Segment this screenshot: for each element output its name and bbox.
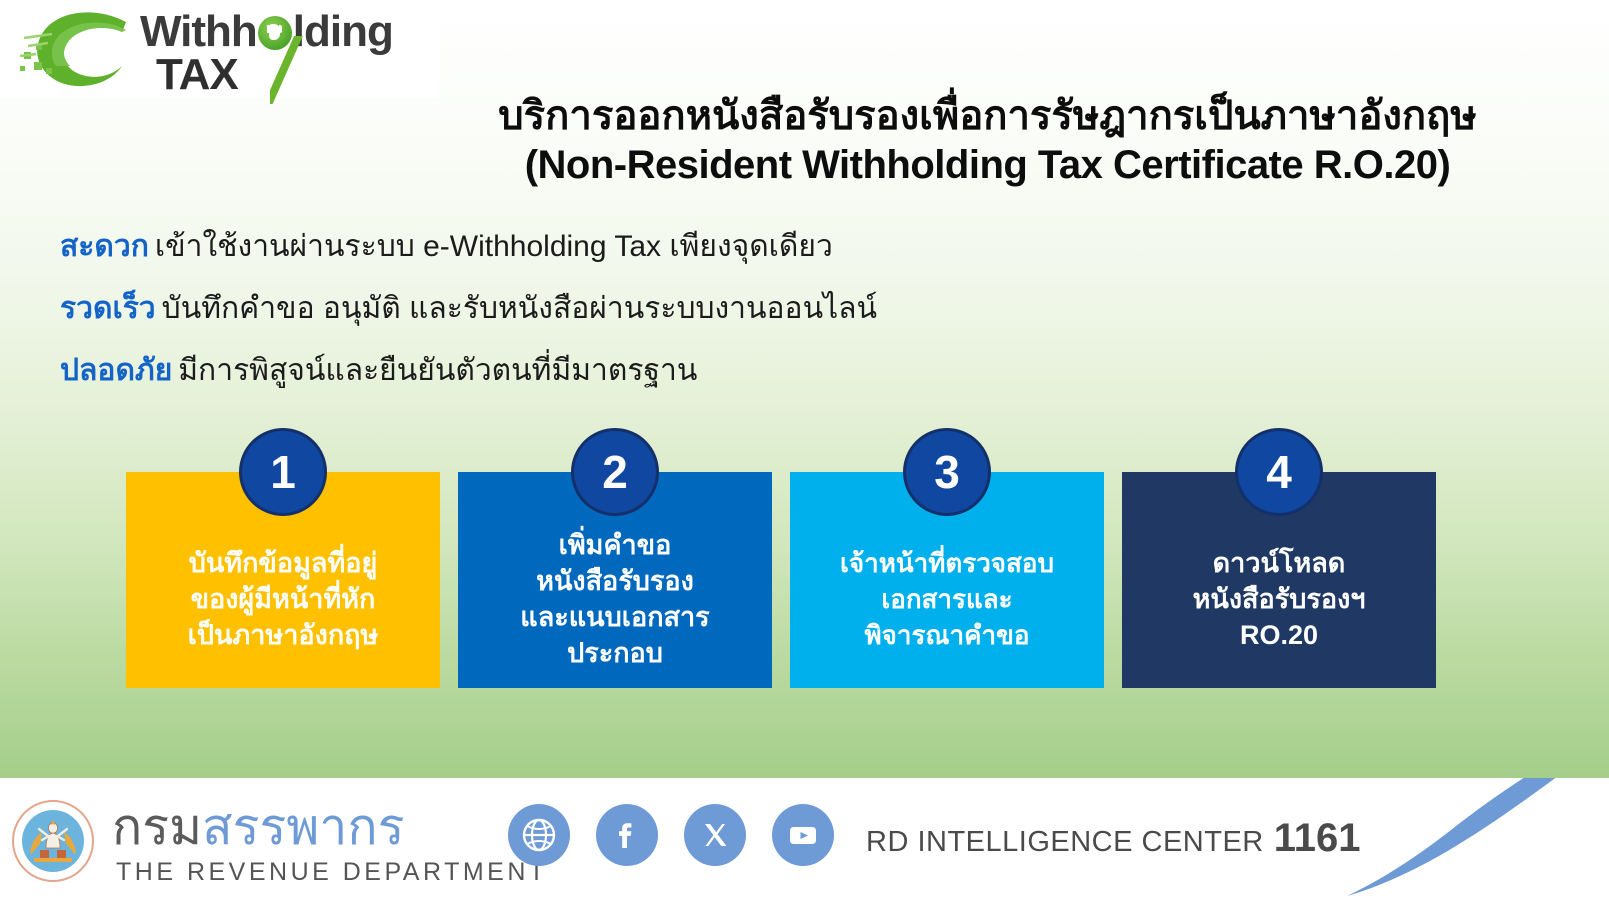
step-card-4-text: ดาวน์โหลด หนังสือรับรองฯ RO.20 xyxy=(1193,545,1366,653)
step-number-badge-2: 2 xyxy=(571,428,659,516)
page-title-english: (Non-Resident Withholding Tax Certificat… xyxy=(380,140,1595,190)
revenue-department-seal-icon xyxy=(12,800,94,882)
benefits-list: สะดวกเข้าใช้งานผ่านระบบ e-Withholding Ta… xyxy=(60,216,1160,402)
step-card-2: เพิ่มคำขอ หนังสือรับรอง และแนบเอกสาร ประ… xyxy=(458,472,772,688)
step-number-badge-4: 4 xyxy=(1235,428,1323,516)
page-title-thai: บริการออกหนังสือรับรองเพื่อการรัษฎากรเป็… xyxy=(380,92,1595,140)
revenue-department-english-name: THE REVENUE DEPARTMENT xyxy=(116,858,548,887)
footer-bar: กรมสรรพากร THE REVENUE DEPARTMENT xyxy=(0,778,1609,903)
green-e-icon xyxy=(18,8,148,96)
step-card-1: บันทึกข้อมูลที่อยู่ ของผู้มีหน้าที่หัก เ… xyxy=(126,472,440,688)
step-card-3-text: เจ้าหน้าที่ตรวจสอบ เอกสารและ พิจารณาคำขอ xyxy=(840,545,1054,653)
benefit-text: เข้าใช้งานผ่านระบบ e-Withholding Tax เพี… xyxy=(155,230,833,263)
rd-intelligence-center-label: RD INTELLIGENCE CENTER xyxy=(866,826,1264,858)
vishnu-emblem-figure xyxy=(26,814,80,868)
step-card-1-text: บันทึกข้อมูลที่อยู่ ของผู้มีหน้าที่หัก เ… xyxy=(188,545,379,653)
step-card-2-text: เพิ่มคำขอ หนังสือรับรอง และแนบเอกสาร ประ… xyxy=(520,527,709,671)
youtube-icon[interactable] xyxy=(772,804,834,866)
benefit-item: สะดวกเข้าใช้งานผ่านระบบ e-Withholding Ta… xyxy=(60,216,1160,278)
step-number-badge-3: 3 xyxy=(903,428,991,516)
process-steps: บันทึกข้อมูลที่อยู่ ของผู้มีหน้าที่หัก เ… xyxy=(0,428,1609,698)
e-withholding-tax-logo: Withhlding TAX xyxy=(0,0,440,98)
rd-intelligence-center: RD INTELLIGENCE CENTER1161 xyxy=(866,816,1361,861)
benefit-keyword: รวดเร็ว xyxy=(60,292,156,325)
poster-root: Withhlding TAX บริการออกหนังสือรับรองเพื… xyxy=(0,0,1609,903)
revenue-department-thai-name: กรมสรรพากร xyxy=(112,798,405,856)
benefit-text: บันทึกคำขอ อนุมัติ และรับหนังสือผ่านระบบ… xyxy=(162,292,877,325)
rd-intelligence-center-number: 1161 xyxy=(1274,816,1361,860)
page-title: บริการออกหนังสือรับรองเพื่อการรัษฎากรเป็… xyxy=(380,92,1595,190)
logo-wordmark: Withhlding TAX xyxy=(140,6,440,98)
logo-wordmark-line2: TAX xyxy=(156,50,238,100)
green-x-stroke-icon xyxy=(270,36,330,104)
blue-swoosh-decoration xyxy=(1319,778,1609,903)
x-twitter-icon[interactable] xyxy=(684,804,746,866)
website-globe-icon[interactable] xyxy=(508,804,570,866)
benefit-keyword: ปลอดภัย xyxy=(60,354,172,387)
revenue-department-logo: กรมสรรพากร THE REVENUE DEPARTMENT xyxy=(12,792,482,892)
benefit-item: ปลอดภัยมีการพิสูจน์และยืนยันตัวตนที่มีมา… xyxy=(60,340,1160,402)
step-card-3: เจ้าหน้าที่ตรวจสอบ เอกสารและ พิจารณาคำขอ… xyxy=(790,472,1104,688)
facebook-icon[interactable] xyxy=(596,804,658,866)
step-card-4: ดาวน์โหลด หนังสือรับรองฯ RO.20 4 xyxy=(1122,472,1436,688)
benefit-keyword: สะดวก xyxy=(60,230,149,263)
benefit-item: รวดเร็วบันทึกคำขอ อนุมัติ และรับหนังสือผ… xyxy=(60,278,1160,340)
benefit-text: มีการพิสูจน์และยืนยันตัวตนที่มีมาตรฐาน xyxy=(178,354,697,387)
step-number-badge-1: 1 xyxy=(239,428,327,516)
social-links xyxy=(508,804,834,866)
